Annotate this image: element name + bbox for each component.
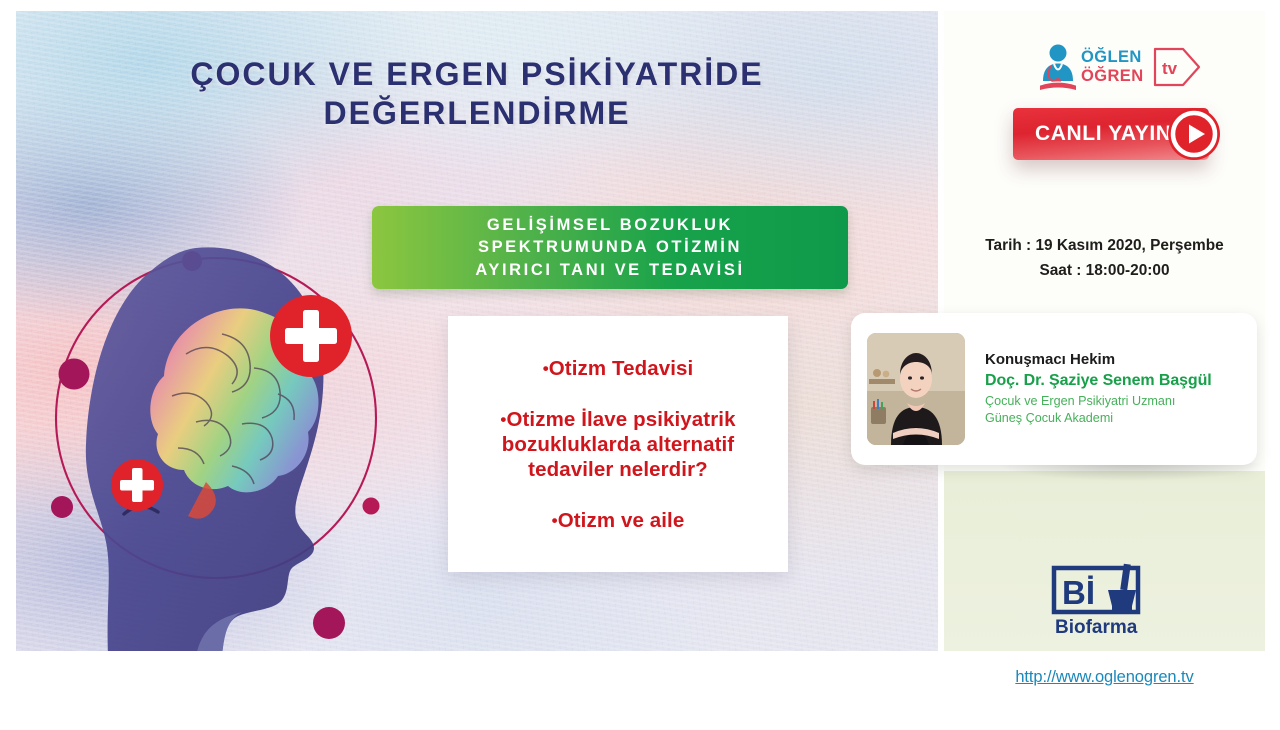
- orbit-dot-right: [363, 498, 380, 515]
- doctor-with-book-icon: [1040, 45, 1076, 91]
- brand-tv-label: tv: [1162, 59, 1178, 78]
- topic-banner-line-2: SPEKTRUMUNDA OTİZMİN: [475, 236, 744, 258]
- orbit-dot-lower-left: [51, 496, 73, 518]
- sponsor-logo: Bİ Biofarma: [1050, 560, 1160, 638]
- website-url[interactable]: http://www.oglenogren.tv: [944, 668, 1265, 687]
- brand-line-1: ÖĞLEN: [1081, 47, 1142, 66]
- list-item: •Otizme İlave psikiyatrik bozukluklarda …: [464, 407, 772, 482]
- head-brain-illustration: [46, 186, 386, 651]
- event-datetime: Tarih : 19 Kasım 2020, Perşembe Saat : 1…: [944, 234, 1265, 284]
- list-item: •Otizm ve aile: [552, 508, 685, 533]
- sponsor-name: Biofarma: [1055, 617, 1138, 638]
- speaker-info: Konuşmacı Hekim Doç. Dr. Şaziye Senem Ba…: [985, 351, 1212, 427]
- topic-banner-line-3: AYIRICI TANI VE TEDAVİSİ: [475, 259, 744, 281]
- topic-banner-line-1: GELİŞİMSEL BOZUKLUK: [475, 214, 744, 236]
- brand-logo[interactable]: ÖĞLEN ÖĞREN tv: [1034, 40, 1204, 94]
- page-title: ÇOCUK VE ERGEN PSİKİYATRİDE DEĞERLENDİRM…: [16, 55, 938, 134]
- sponsor-mark: Bİ: [1062, 574, 1095, 611]
- list-item-label: Otizme İlave psikiyatrik bozukluklarda a…: [502, 408, 736, 481]
- list-item-label: Otizm ve aile: [558, 509, 685, 532]
- topic-banner: GELİŞİMSEL BOZUKLUK SPEKTRUMUNDA OTİZMİN…: [372, 206, 848, 289]
- live-stream-badge[interactable]: CANLI YAYIN: [1013, 108, 1209, 160]
- speaker-specialty: Çocuk ve Ergen Psikiyatri Uzmanı: [985, 393, 1212, 410]
- headline-line-1: ÇOCUK VE ERGEN PSİKİYATRİDE: [190, 56, 763, 92]
- list-item: •Otizm Tedavisi: [543, 356, 694, 381]
- plus-badge-large: [270, 295, 352, 377]
- speaker-institution: Güneş Çocuk Akademi: [985, 410, 1212, 427]
- speaker-name: Doç. Dr. Şaziye Senem Başgül: [985, 372, 1212, 390]
- orbit-dot-left: [59, 359, 90, 390]
- poster-image: ÇOCUK VE ERGEN PSİKİYATRİDE DEĞERLENDİRM…: [0, 0, 1280, 730]
- live-stream-label: CANLI YAYIN: [1035, 122, 1172, 146]
- mortar-pestle-icon: [1108, 564, 1136, 612]
- plus-badge-small: [111, 459, 163, 511]
- speaker-card: Konuşmacı Hekim Doç. Dr. Şaziye Senem Ba…: [851, 313, 1257, 465]
- event-time: Saat : 18:00-20:00: [944, 259, 1265, 284]
- list-item-label: Otizm Tedavisi: [549, 357, 694, 380]
- main-poster-panel: ÇOCUK VE ERGEN PSİKİYATRİDE DEĞERLENDİRM…: [16, 11, 938, 651]
- brand-line-2: ÖĞREN: [1081, 66, 1144, 85]
- sidebar-card-shadow: [944, 463, 1265, 509]
- headline-line-2: DEĞERLENDİRME: [16, 94, 938, 133]
- speaker-role: Konuşmacı Hekim: [985, 351, 1212, 368]
- orbit-dot-bottom-right: [313, 607, 345, 639]
- play-circle-icon[interactable]: [1166, 106, 1222, 162]
- topics-card: •Otizm Tedavisi •Otizme İlave psikiyatri…: [448, 316, 788, 572]
- speaker-photo: [867, 333, 965, 445]
- event-date: Tarih : 19 Kasım 2020, Perşembe: [944, 234, 1265, 259]
